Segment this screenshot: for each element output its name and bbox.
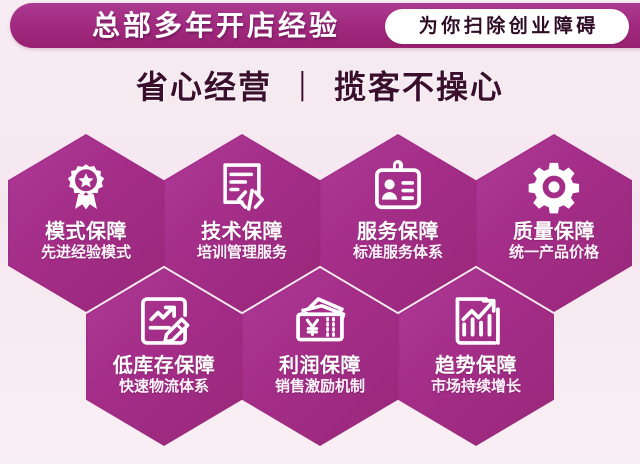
header-title: 总部多年开店经验	[56, 7, 376, 47]
feature-subtitle: 标准服务体系	[353, 245, 443, 262]
feature-title: 低库存保障	[113, 355, 216, 377]
promo-banner: 总部多年开店经验 为你扫除创业障碍 省心经营丨揽客不操心	[0, 0, 640, 464]
chart-pencil-icon	[137, 294, 191, 348]
feature-subtitle: 销售激励机制	[275, 379, 365, 396]
header-bar: 总部多年开店经验 为你扫除创业障碍	[10, 3, 640, 48]
gear-icon	[527, 160, 581, 214]
feature-subtitle: 先进经验模式	[41, 245, 131, 262]
feature-hex-grid: 模式保障 先进经验模式 技术保障 培训管理服务	[0, 118, 640, 464]
code-document-icon	[215, 160, 269, 214]
header-pill-label: 为你扫除创业障碍	[385, 9, 629, 44]
feature-title: 利润保障	[279, 355, 361, 377]
feature-title: 趋势保障	[435, 355, 517, 377]
feature-title: 服务保障	[357, 221, 439, 243]
header-pill-badge: 为你扫除创业障碍	[385, 9, 629, 44]
page-title: 省心经营丨揽客不操心	[0, 62, 640, 106]
feature-subtitle: 市场持续增长	[431, 379, 521, 396]
id-badge-icon	[371, 160, 425, 214]
medal-star-icon	[59, 160, 113, 214]
feature-subtitle: 培训管理服务	[197, 245, 287, 262]
banknote-yen-icon	[293, 294, 347, 348]
feature-title: 模式保障	[45, 221, 127, 243]
headline-left: 省心经营	[136, 69, 272, 105]
headline-separator: 丨	[294, 62, 313, 108]
feature-title: 技术保障	[201, 221, 283, 243]
feature-subtitle: 统一产品价格	[509, 245, 599, 262]
feature-title: 质量保障	[513, 221, 595, 243]
feature-subtitle: 快速物流体系	[119, 379, 209, 396]
headline-right: 揽客不操心	[334, 69, 504, 105]
growth-chart-arrow-icon	[449, 294, 503, 348]
